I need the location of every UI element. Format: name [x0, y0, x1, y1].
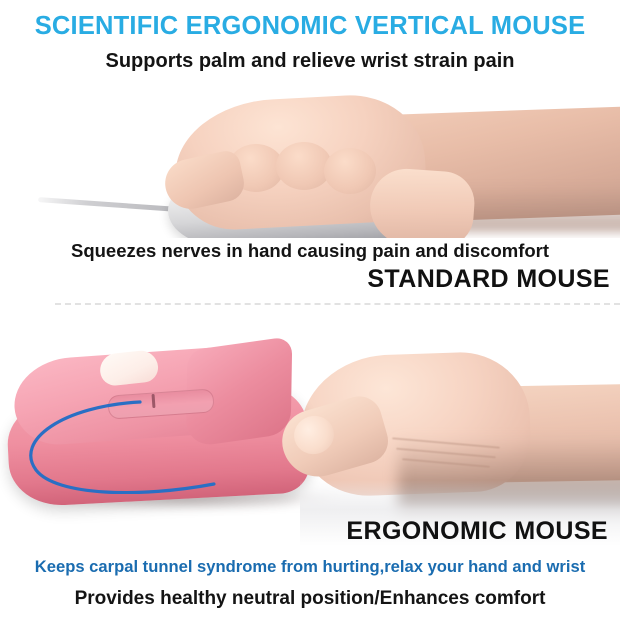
knuckle	[324, 148, 376, 194]
product-infographic: SCIENTIFIC ERGONOMIC VERTICAL MOUSE Supp…	[0, 0, 620, 620]
standard-mouse-photo	[0, 78, 620, 238]
section-divider	[55, 303, 620, 305]
benefit-line-secondary: Provides healthy neutral position/Enhanc…	[0, 588, 620, 610]
finger-front-standard	[367, 166, 476, 238]
ergonomic-mouse-label: ERGONOMIC MOUSE	[346, 517, 608, 546]
mouse-cable	[38, 197, 178, 212]
benefit-line-primary: Keeps carpal tunnel syndrome from hurtin…	[0, 557, 620, 577]
ergonomic-mouse-photo	[0, 330, 620, 545]
page-subtitle: Supports palm and relieve wrist strain p…	[0, 50, 620, 73]
standard-mouse-label: STANDARD MOUSE	[367, 265, 610, 294]
page-title: SCIENTIFIC ERGONOMIC VERTICAL MOUSE	[0, 12, 620, 41]
vertical-mouse-accent-curve	[8, 396, 218, 494]
standard-mouse-caption: Squeezes nerves in hand causing pain and…	[0, 240, 620, 262]
